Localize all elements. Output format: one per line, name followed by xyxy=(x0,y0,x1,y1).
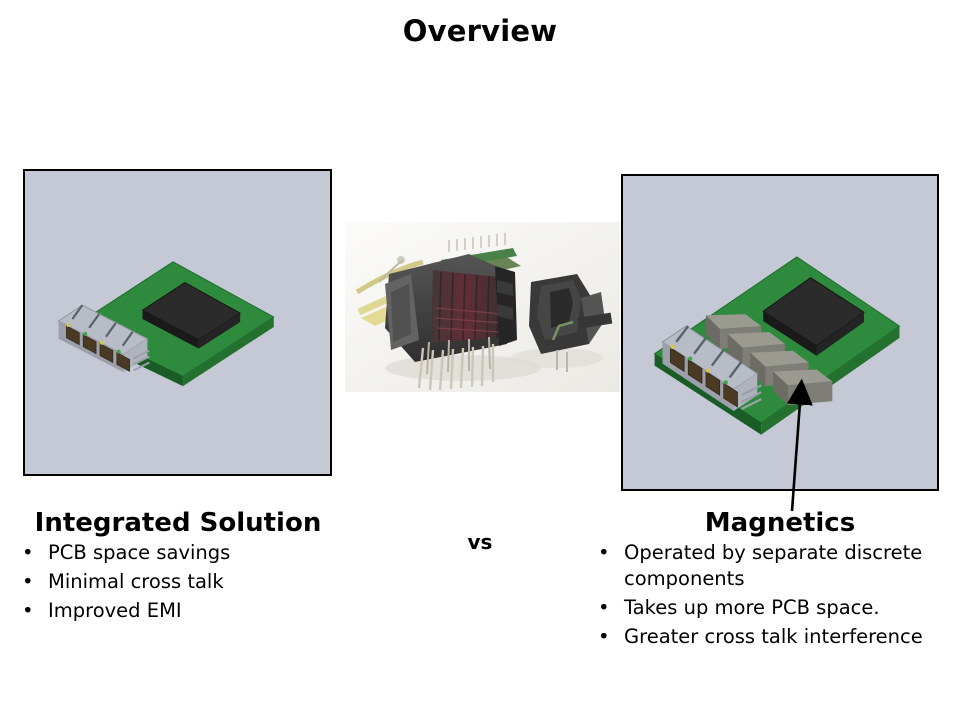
list-item: • PCB space savings xyxy=(16,540,346,566)
bullet-icon: • xyxy=(22,569,34,595)
bullet-icon: • xyxy=(22,598,34,624)
bullet-icon: • xyxy=(598,624,610,650)
list-item-label: Operated by separate discrete components xyxy=(624,541,922,590)
magnetics-photo-graphic xyxy=(345,222,620,392)
magnetics-bullet-list: • Operated by separate discrete componen… xyxy=(592,540,954,653)
integrated-solution-bullet-list: • PCB space savings • Minimal cross talk… xyxy=(16,540,346,627)
magnetics-heading: Magnetics xyxy=(620,508,940,538)
list-item: • Minimal cross talk xyxy=(16,569,346,595)
list-item-label: Takes up more PCB space. xyxy=(624,596,880,619)
bullet-icon: • xyxy=(22,540,34,566)
list-item-label: PCB space savings xyxy=(48,541,230,564)
list-item: • Greater cross talk interference xyxy=(592,624,954,650)
list-item: • Improved EMI xyxy=(16,598,346,624)
list-item-label: Improved EMI xyxy=(48,599,182,622)
integrated-solution-image-panel xyxy=(23,169,332,476)
list-item-label: Greater cross talk interference xyxy=(624,625,923,648)
page-title: Overview xyxy=(0,14,960,48)
list-item: • Operated by separate discrete componen… xyxy=(592,540,954,592)
list-item: • Takes up more PCB space. xyxy=(592,595,954,621)
comparison-label: vs xyxy=(420,530,540,554)
discrete-magnetics-photo xyxy=(345,222,620,392)
magnetics-image-panel xyxy=(621,174,939,491)
integrated-solution-heading: Integrated Solution xyxy=(8,508,348,538)
list-item-label: Minimal cross talk xyxy=(48,570,224,593)
bullet-icon: • xyxy=(598,595,610,621)
integrated-solution-pcb-render xyxy=(25,171,330,474)
magnetics-pcb-render xyxy=(623,176,937,489)
bullet-icon: • xyxy=(598,540,610,566)
